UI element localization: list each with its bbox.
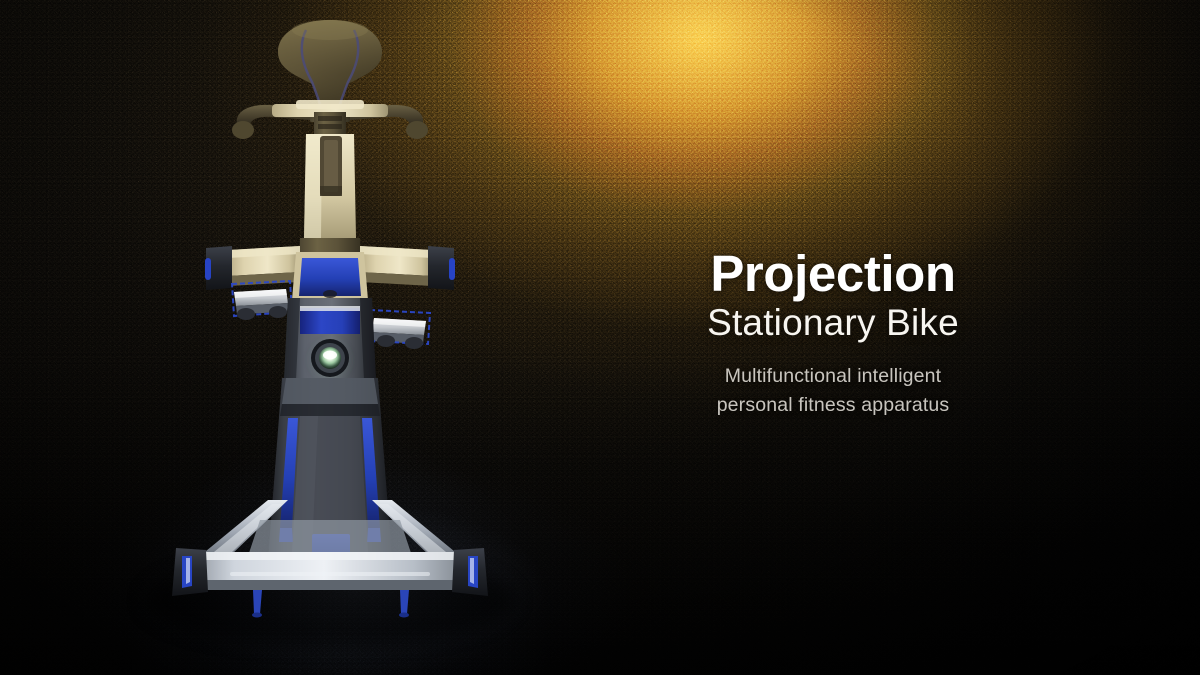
hero-tagline: Multifunctional intelligent personal fit… bbox=[668, 362, 998, 419]
hero-banner: Projection Stationary Bike Multifunction… bbox=[0, 0, 1200, 675]
hero-tagline-line-1: Multifunctional intelligent bbox=[668, 362, 998, 390]
hero-copy-block: Projection Stationary Bike Multifunction… bbox=[668, 248, 998, 419]
hero-subheadline: Stationary Bike bbox=[668, 302, 998, 343]
hero-tagline-line-2: personal fitness apparatus bbox=[668, 391, 998, 419]
background-gravel-speckle bbox=[0, 0, 1200, 675]
hero-headline: Projection bbox=[668, 248, 998, 299]
